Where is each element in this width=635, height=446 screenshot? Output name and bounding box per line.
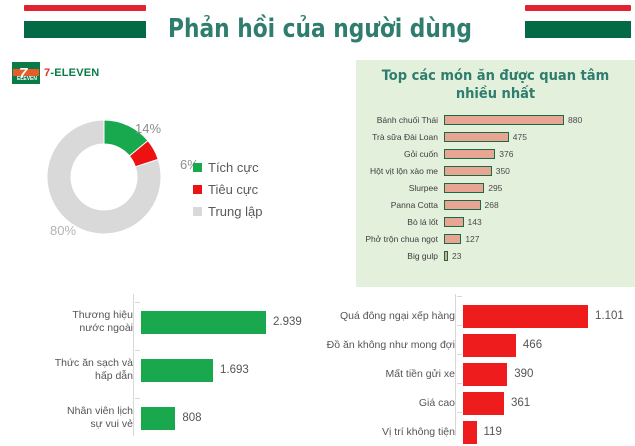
- bar-label: Thương hiệu nước ngoài: [0, 309, 141, 335]
- dish-row: Big gulp23: [356, 247, 635, 264]
- top-dishes-rows: Bánh chuối Thái880Trà sữa Đài Loan475Gỏi…: [356, 111, 635, 264]
- top-dishes-title: Top các món ăn được quan tâm nhiều nhất: [356, 60, 635, 105]
- bar-row: Đồ ăn không như mong đợi466: [315, 331, 542, 359]
- dish-row: Panna Cotta268: [356, 196, 635, 213]
- dish-row: Phở trộn chua ngọt127: [356, 230, 635, 247]
- dish-bar[interactable]: [444, 115, 564, 125]
- flag-stripe-white: [24, 11, 146, 21]
- dish-label: Bánh chuối Thái: [356, 115, 444, 125]
- bar-row: Vị trí không tiện119: [315, 418, 502, 446]
- dish-row: Hột vịt lộn xào me350: [356, 162, 635, 179]
- flag-stripe-green: [24, 21, 146, 38]
- dish-value: 295: [484, 183, 502, 193]
- dish-bar[interactable]: [444, 217, 464, 227]
- axis-tick: [135, 302, 140, 303]
- bar-rect[interactable]: [463, 305, 588, 328]
- bar-value: 390: [507, 368, 533, 380]
- bar-row: Thương hiệu nước ngoài2.939: [0, 308, 302, 336]
- dish-row: Slurpee295: [356, 179, 635, 196]
- bar-row: Giá cao361: [315, 389, 530, 417]
- legend-label-positive: Tích cực: [208, 160, 259, 175]
- dish-value: 143: [464, 217, 482, 227]
- bar-rect[interactable]: [463, 363, 507, 386]
- logo-eleven-glyph: ELEVEN: [14, 76, 40, 83]
- dish-bar[interactable]: [444, 183, 484, 193]
- axis-tick: [457, 412, 462, 413]
- dish-value: 350: [492, 166, 510, 176]
- bar-label: Đồ ăn không như mong đợi: [315, 339, 463, 352]
- bar-row: Quá đông ngại xếp hàng1.101: [315, 302, 624, 330]
- dish-label: Bò lá lốt: [356, 217, 444, 227]
- dish-bar[interactable]: [444, 149, 495, 159]
- bar-label: Vị trí không tiện: [315, 426, 463, 439]
- bar-label: Thức ăn sạch và hấp dẫn: [0, 357, 141, 383]
- donut-legend: Tích cực Tiêu cực Trung lập: [193, 156, 262, 222]
- bar-row: Mất tiền gửi xe390: [315, 360, 533, 388]
- dish-bar[interactable]: [444, 132, 509, 142]
- donut-label-positive: 14%: [135, 121, 161, 136]
- sentiment-donut-chart: 14% 6% 80% Tích cực Tiêu cực Trung lập: [0, 95, 350, 275]
- legend-label-negative: Tiêu cực: [208, 182, 258, 197]
- bar-rect[interactable]: [141, 407, 175, 430]
- bar-row: Thức ăn sạch và hấp dẫn1.693: [0, 356, 249, 384]
- flag-stripe-white: [525, 11, 631, 21]
- dish-value: 880: [564, 115, 582, 125]
- seven-eleven-logo: 7 ELEVEN 7-ELEVEN: [12, 62, 99, 84]
- top-dishes-panel: Top các món ăn được quan tâm nhiều nhất …: [356, 60, 635, 287]
- dish-label: Panna Cotta: [356, 200, 444, 210]
- axis-tick: [457, 383, 462, 384]
- bar-value: 1.693: [213, 364, 249, 376]
- bar-rect[interactable]: [463, 421, 477, 444]
- bar-value: 1.101: [588, 310, 624, 322]
- donut-label-neutral: 80%: [50, 223, 76, 238]
- page-header: Phản hồi của người dùng: [0, 0, 635, 58]
- negative-reasons-chart: Quá đông ngại xếp hàng1.101Đồ ăn không n…: [315, 290, 635, 440]
- dish-value: 23: [448, 251, 461, 261]
- bar-value: 808: [175, 412, 201, 424]
- legend-label-neutral: Trung lập: [208, 204, 262, 219]
- dish-bar[interactable]: [444, 166, 492, 176]
- dish-bar[interactable]: [444, 234, 461, 244]
- bar-label: Nhân viên lịch sự vui vẻ: [0, 405, 141, 431]
- dish-label: Hột vịt lộn xào me: [356, 166, 444, 176]
- axis-tick: [457, 325, 462, 326]
- dish-value: 475: [509, 132, 527, 142]
- dish-label: Slurpee: [356, 183, 444, 193]
- legend-swatch-negative: [193, 185, 202, 194]
- bar-rect[interactable]: [463, 334, 516, 357]
- legend-item-positive[interactable]: Tích cực: [193, 156, 262, 178]
- flag-decoration-left: [24, 5, 146, 38]
- axis-tick: [135, 350, 140, 351]
- bar-value: 466: [516, 339, 542, 351]
- seven-eleven-mark-icon: 7 ELEVEN: [12, 62, 40, 84]
- axis-tick: [457, 354, 462, 355]
- dish-row: Bánh chuối Thái880: [356, 111, 635, 128]
- seven-eleven-wordmark: 7-ELEVEN: [44, 67, 99, 79]
- axis-tick: [457, 296, 462, 297]
- bar-value: 361: [504, 397, 530, 409]
- dish-bar[interactable]: [444, 200, 481, 210]
- bar-rect[interactable]: [141, 311, 266, 334]
- bar-label: Mất tiền gửi xe: [315, 368, 463, 381]
- dish-row: Bò lá lốt143: [356, 213, 635, 230]
- legend-swatch-neutral: [193, 207, 202, 216]
- dish-label: Trà sữa Đài Loan: [356, 132, 444, 142]
- bar-label: Giá cao: [315, 397, 463, 410]
- bar-value: 119: [477, 426, 502, 438]
- bar-rect[interactable]: [141, 359, 213, 382]
- legend-item-neutral[interactable]: Trung lập: [193, 200, 262, 222]
- page-title: Phản hồi của người dùng: [153, 14, 488, 44]
- dish-row: Trà sữa Đài Loan475: [356, 128, 635, 145]
- bar-label: Quá đông ngại xếp hàng: [315, 310, 463, 323]
- bar-value: 2.939: [266, 316, 302, 328]
- bar-row: Nhân viên lịch sự vui vẻ808: [0, 404, 202, 432]
- positive-reasons-chart: Thương hiệu nước ngoài2.939Thức ăn sạch …: [0, 290, 320, 440]
- flag-decoration-right: [525, 5, 631, 38]
- axis-tick: [135, 398, 140, 399]
- dish-row: Gỏi cuốn376: [356, 145, 635, 162]
- wordmark-eleven: ELEVEN: [54, 67, 99, 79]
- bar-rect[interactable]: [463, 392, 504, 415]
- dish-label: Gỏi cuốn: [356, 149, 444, 159]
- dish-value: 127: [461, 234, 479, 244]
- dish-value: 268: [481, 200, 499, 210]
- dish-label: Big gulp: [356, 251, 444, 261]
- legend-item-negative[interactable]: Tiêu cực: [193, 178, 262, 200]
- flag-stripe-green: [525, 21, 631, 38]
- legend-swatch-positive: [193, 163, 202, 172]
- dish-value: 376: [495, 149, 513, 159]
- dish-label: Phở trộn chua ngọt: [356, 234, 444, 244]
